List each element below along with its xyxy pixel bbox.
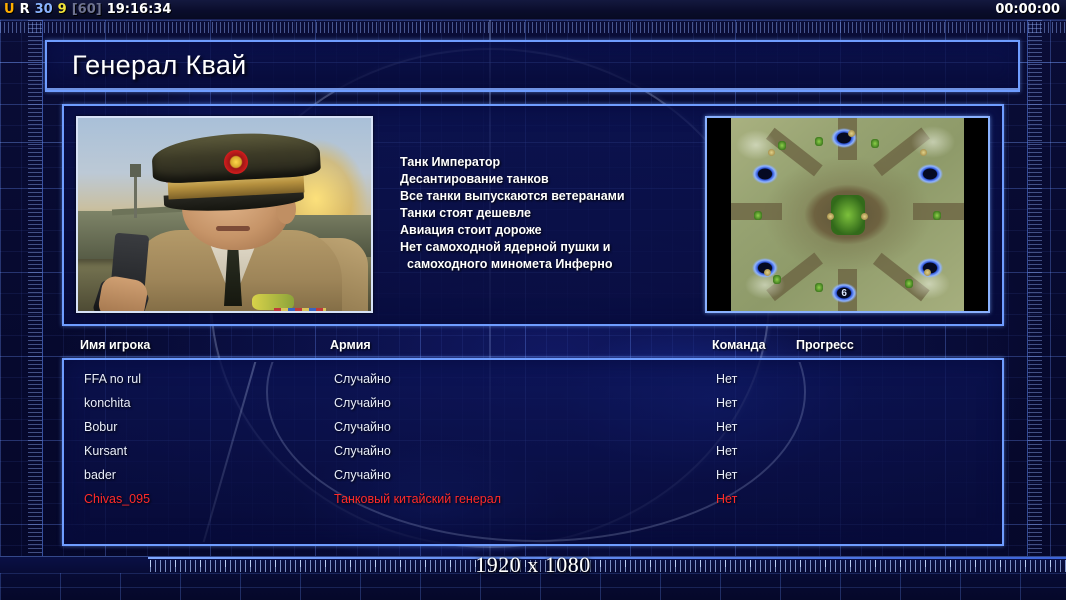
overlay-fps: 30 [35, 2, 53, 17]
player-army: Случайно [334, 468, 391, 482]
overlay-ping: 9 [58, 2, 67, 17]
overlay-session-time: 19:16:34 [107, 2, 172, 17]
ruler-left [28, 20, 42, 600]
table-row-highlighted[interactable]: Chivas_095 Танковый китайский генерал Не… [66, 488, 1000, 512]
column-header-progress: Прогресс [796, 338, 854, 352]
map-tree [815, 283, 823, 292]
general-portrait-frame [76, 116, 373, 313]
player-name: bader [84, 468, 116, 482]
portrait-mouth [216, 226, 250, 231]
map-preview-frame[interactable]: 6 [705, 116, 990, 313]
player-team: Нет [716, 396, 737, 410]
overlay-ping-max: [60] [72, 2, 102, 17]
portrait-medal-ribbon [274, 308, 326, 311]
general-info-panel: Танк Император Десантирование танков Все… [62, 104, 1004, 326]
map-start-position [917, 164, 943, 184]
general-bonus-line: Все танки выпускаются ветеранами [400, 188, 712, 205]
map-resource [827, 213, 834, 220]
map-resource [848, 130, 855, 137]
table-row[interactable]: FFA no rul Случайно Нет [66, 368, 1000, 392]
player-list-panel: FFA no rul Случайно Нет konchita Случайн… [62, 358, 1004, 546]
ruler-top [0, 22, 1066, 33]
map-tree [933, 211, 941, 220]
table-row[interactable]: Bobur Случайно Нет [66, 416, 1000, 440]
general-bonus-line: Десантирование танков [400, 171, 712, 188]
map-preview-image: 6 [731, 118, 964, 311]
player-team: Нет [716, 468, 737, 482]
player-army: Случайно [334, 396, 391, 410]
player-team: Нет [716, 444, 737, 458]
player-list-headers: Имя игрока Армия Команда Прогресс [80, 338, 1010, 358]
player-name: FFA no rul [84, 372, 141, 386]
player-army: Случайно [334, 420, 391, 434]
general-bonus-list: Танк Император Десантирование танков Все… [400, 154, 712, 273]
general-bonus-line: самоходного миномета Инферно [400, 256, 712, 273]
table-row[interactable]: konchita Случайно Нет [66, 392, 1000, 416]
player-team: Нет [716, 372, 737, 386]
page-title: Генерал Квай [72, 50, 247, 81]
table-row[interactable]: bader Случайно Нет [66, 464, 1000, 488]
resolution-label: 1920 x 1080 [0, 552, 1066, 578]
map-tree [815, 137, 823, 146]
general-bonus-line: Танк Император [400, 154, 712, 171]
player-army: Танковый китайский генерал [334, 492, 501, 506]
map-cloud [911, 126, 955, 158]
map-resource [768, 149, 775, 156]
map-center-base [831, 195, 865, 235]
map-resource [764, 269, 771, 276]
player-name: Bobur [84, 420, 117, 434]
column-header-team: Команда [712, 338, 766, 352]
portrait-pole [134, 172, 137, 218]
overlay-tag-r: R [20, 2, 30, 17]
player-list-inner: FFA no rul Случайно Нет konchita Случайн… [66, 362, 1000, 542]
player-team: Нет [716, 420, 737, 434]
player-progress-bar [800, 492, 996, 503]
overlay-stats: UR 30 9 [60] 19:16:34 [0, 2, 171, 17]
overlay-clock-group: 00:00:00 [995, 2, 1066, 17]
player-name: Kursant [84, 444, 127, 458]
overlay-status-bar: UR 30 9 [60] 19:16:34 00:00:00 [0, 0, 1066, 20]
title-panel: Генерал Квай [45, 40, 1020, 92]
overlay-tag-u: U [4, 2, 15, 17]
general-bonus-line: Авиация стоит дороже [400, 222, 712, 239]
player-team: Нет [716, 492, 737, 506]
table-row[interactable]: Kursant Случайно Нет [66, 440, 1000, 464]
player-army: Случайно [334, 444, 391, 458]
map-tree [754, 211, 762, 220]
ruler-right [1028, 20, 1042, 600]
map-tree [778, 141, 786, 150]
map-tree [905, 279, 913, 288]
map-tree [773, 275, 781, 284]
overlay-clock: 00:00:00 [995, 2, 1060, 17]
player-progress-bar [800, 444, 996, 455]
player-name: konchita [84, 396, 131, 410]
player-name: Chivas_095 [84, 492, 150, 506]
player-progress-bar [800, 420, 996, 431]
map-start-position [752, 164, 778, 184]
general-bonus-line: Танки стоят дешевле [400, 205, 712, 222]
general-bonus-line: Нет самоходной ядерной пушки и [400, 239, 712, 256]
player-progress-bar [800, 396, 996, 407]
player-progress-bar [800, 468, 996, 479]
game-lobby-screen: UR 30 9 [60] 19:16:34 00:00:00 Генерал К… [0, 0, 1066, 600]
column-header-player-name: Имя игрока [80, 338, 150, 352]
edge-line-left [42, 20, 43, 556]
map-resource [861, 213, 868, 220]
portrait-cap-badge-icon [224, 150, 248, 174]
column-header-army: Армия [330, 338, 371, 352]
general-portrait-image [78, 118, 371, 311]
edge-line-right [1027, 20, 1028, 556]
map-tree [871, 139, 879, 148]
player-army: Случайно [334, 372, 391, 386]
player-progress-bar [800, 372, 996, 383]
map-resource [920, 149, 927, 156]
